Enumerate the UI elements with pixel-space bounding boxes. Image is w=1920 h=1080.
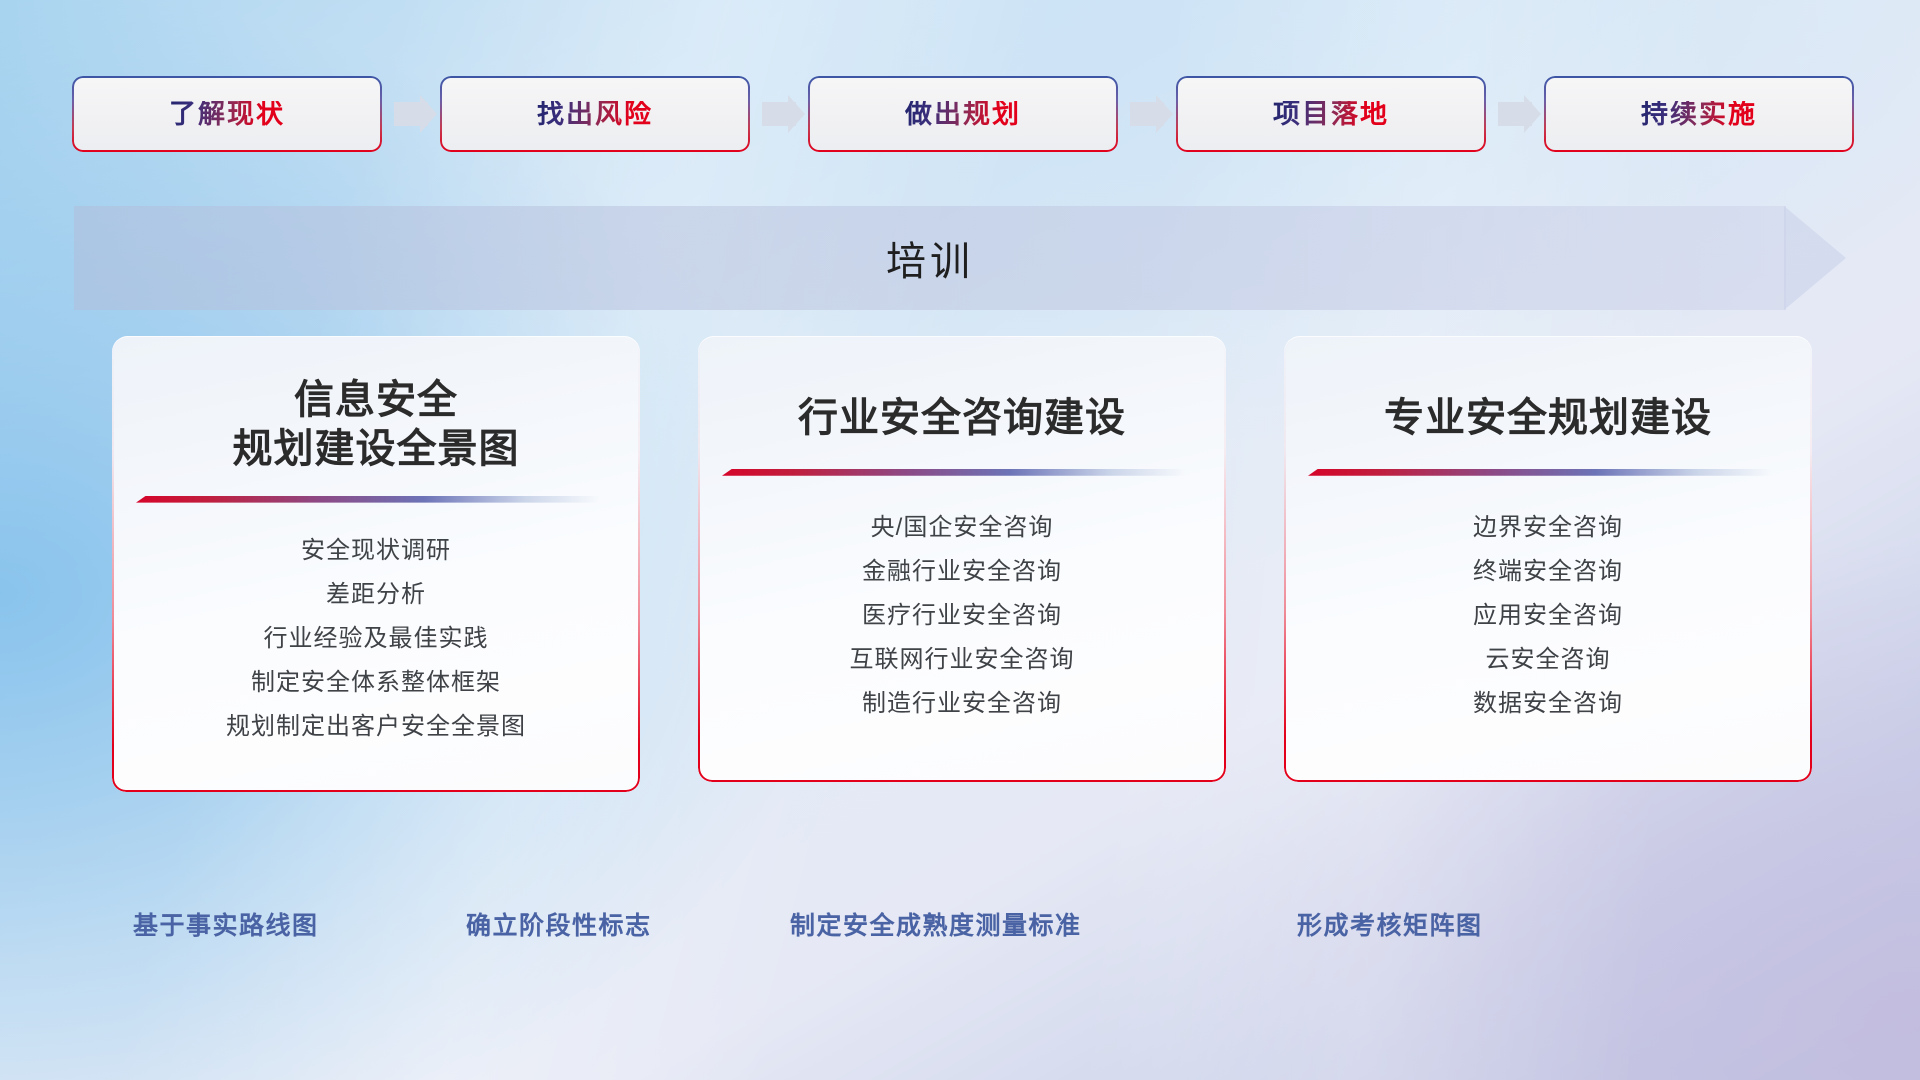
list-item: 安全现状调研	[132, 529, 620, 573]
step-box-4[interactable]: 项目落地	[1178, 78, 1484, 150]
card-2-divider	[722, 469, 1186, 476]
step-box-5[interactable]: 持续实施	[1546, 78, 1852, 150]
list-item: 差距分析	[132, 573, 620, 617]
step-label-1: 了解现状	[169, 101, 285, 128]
capability-cards: 信息安全 规划建设全景图 安全现状调研 差距分析 行业经验及最佳实践 制定安全体…	[112, 336, 1812, 876]
card-1-divider	[136, 496, 600, 503]
card-2-title-line1: 行业安全咨询建设	[726, 394, 1198, 443]
card-2-title: 行业安全咨询建设	[698, 336, 1226, 443]
card-3-title-line1: 专业安全规划建设	[1312, 394, 1784, 443]
card-2-item-list: 央/国企安全咨询 金融行业安全咨询 医疗行业安全咨询 互联网行业安全咨询 制造行…	[698, 476, 1226, 726]
card-3-item-list: 边界安全咨询 终端安全咨询 应用安全咨询 云安全咨询 数据安全咨询	[1284, 476, 1812, 726]
list-item: 央/国企安全咨询	[718, 506, 1206, 550]
card-professional-security-planning[interactable]: 专业安全规划建设 边界安全咨询 终端安全咨询 应用安全咨询 云安全咨询 数据安全…	[1284, 336, 1812, 782]
footer-label-4: 形成考核矩阵图	[1297, 906, 1483, 942]
card-1-item-list: 安全现状调研 差距分析 行业经验及最佳实践 制定安全体系整体框架 规划制定出客户…	[112, 503, 640, 749]
list-item: 终端安全咨询	[1304, 550, 1792, 594]
card-3-title: 专业安全规划建设	[1284, 336, 1812, 443]
footer-label-1: 基于事实路线图	[133, 906, 319, 942]
list-item: 规划制定出客户安全全景图	[132, 705, 620, 749]
training-banner: 培训	[74, 206, 1846, 310]
card-industry-security-consulting[interactable]: 行业安全咨询建设 央/国企安全咨询 金融行业安全咨询 医疗行业安全咨询 互联网行…	[698, 336, 1226, 782]
card-3-divider	[1308, 469, 1772, 476]
card-1-title-line1: 信息安全	[140, 376, 612, 425]
list-item: 制定安全体系整体框架	[132, 661, 620, 705]
step-box-3[interactable]: 做出规划	[810, 78, 1116, 150]
list-item: 互联网行业安全咨询	[718, 638, 1206, 682]
list-item: 数据安全咨询	[1304, 682, 1792, 726]
step-box-2[interactable]: 找出风险	[442, 78, 748, 150]
banner-arrow-head-icon	[1784, 206, 1846, 310]
step-label-4: 项目落地	[1273, 101, 1389, 128]
step-label-3: 做出规划	[905, 101, 1021, 128]
list-item: 行业经验及最佳实践	[132, 617, 620, 661]
step-arrow-icon-4	[1484, 78, 1546, 150]
list-item: 制造行业安全咨询	[718, 682, 1206, 726]
training-banner-title: 培训	[74, 206, 1786, 310]
footer-labels-row: 基于事实路线图 确立阶段性标志 制定安全成熟度测量标准 形成考核矩阵图	[0, 906, 1920, 966]
list-item: 金融行业安全咨询	[718, 550, 1206, 594]
list-item: 医疗行业安全咨询	[718, 594, 1206, 638]
step-arrow-icon-3	[1116, 78, 1178, 150]
step-arrow-icon-1	[380, 78, 442, 150]
footer-label-2: 确立阶段性标志	[466, 906, 652, 942]
list-item: 应用安全咨询	[1304, 594, 1792, 638]
step-label-5: 持续实施	[1641, 101, 1757, 128]
step-box-1[interactable]: 了解现状	[74, 78, 380, 150]
card-1-title-line2: 规划建设全景图	[140, 425, 612, 474]
list-item: 云安全咨询	[1304, 638, 1792, 682]
card-information-security-blueprint[interactable]: 信息安全 规划建设全景图 安全现状调研 差距分析 行业经验及最佳实践 制定安全体…	[112, 336, 640, 792]
step-arrow-icon-2	[748, 78, 810, 150]
step-label-2: 找出风险	[537, 101, 653, 128]
footer-label-3: 制定安全成熟度测量标准	[790, 906, 1082, 942]
card-1-title: 信息安全 规划建设全景图	[112, 336, 640, 474]
list-item: 边界安全咨询	[1304, 506, 1792, 550]
process-steps-row: 了解现状 找出风险 做出规划 项目落地 持续实施	[74, 78, 1846, 150]
